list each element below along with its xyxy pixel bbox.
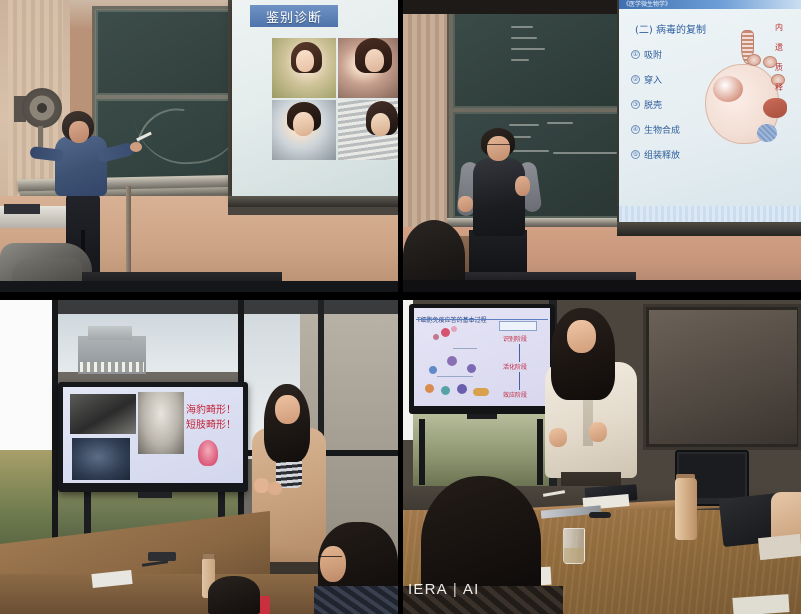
- slide-header-text: 《医学微生物学》: [623, 0, 671, 8]
- whiteboard: [649, 310, 797, 444]
- flow-node: [467, 364, 476, 373]
- panel-top-right: 《医学微生物学》 (二) 病毒的复制 ① 吸附 ② 穿入 ③ 脱壳 ④ 生物合成…: [403, 0, 801, 292]
- step-label: 组装释放: [644, 148, 680, 161]
- slide-image-seal: [72, 438, 130, 480]
- chalk-note: [511, 48, 545, 50]
- slide-footer-band: [619, 206, 801, 222]
- display-leg-right: [537, 419, 543, 485]
- presenter-hand-left: [549, 428, 567, 447]
- teacher-hand: [130, 142, 142, 152]
- flow-node: [433, 334, 439, 340]
- photo-collage: 鉴别诊断: [0, 0, 801, 614]
- panel-bottom-left: 海豹畸形！ 短肢畸形！: [0, 300, 398, 614]
- slide-step-item: ② 穿入: [631, 73, 703, 86]
- table-bottle-cap: [203, 554, 214, 559]
- step-label: 吸附: [644, 48, 662, 61]
- flow-node: [425, 384, 434, 393]
- chalk-note: [509, 124, 539, 126]
- teacher-hand-left: [458, 196, 473, 212]
- slide-image-archival: [70, 394, 136, 434]
- step-label: 生物合成: [644, 123, 680, 136]
- side-note: 质: [775, 62, 801, 73]
- slide-text-line-2: 短肢畸形！: [186, 418, 246, 433]
- photo-face: [293, 112, 313, 136]
- slide-photo-grid: [272, 38, 398, 160]
- watermark-suffix: AI: [463, 581, 480, 598]
- slide-stage-2: 活化阶段: [503, 362, 527, 371]
- step-number: ③: [631, 100, 640, 109]
- teacher-vest: [473, 158, 525, 236]
- flow-link: [453, 348, 477, 349]
- outside-building-roof: [88, 326, 132, 340]
- slide-section-title: (二) 病毒的复制: [635, 21, 706, 36]
- slide-step-item: ① 吸附: [631, 48, 703, 61]
- flow-node: [441, 386, 450, 395]
- teacher-face: [69, 121, 89, 143]
- fan-hub: [37, 103, 47, 113]
- slide-step-item: ③ 脱壳: [631, 98, 703, 111]
- slide-step-item: ⑤ 组装释放: [631, 148, 703, 161]
- attendee-face: [320, 546, 346, 582]
- slide-title-banner: 鉴别诊断: [250, 5, 338, 27]
- flow-node: [451, 326, 457, 332]
- slide-photo-2: [338, 38, 398, 98]
- slide-step-item: ④ 生物合成: [631, 123, 703, 136]
- photo-face: [365, 49, 384, 72]
- watermark-brand: IERA: [408, 581, 448, 598]
- cell-nucleus: [713, 76, 743, 102]
- chalk-note: [511, 59, 529, 61]
- attendee-right-book: [758, 534, 801, 560]
- slide-image-infant: [138, 392, 184, 454]
- panel-top-left: 鉴别诊断: [0, 0, 398, 292]
- photo-face: [371, 113, 390, 136]
- table-device: [148, 552, 176, 561]
- stage-arrow-1: [519, 344, 520, 362]
- flow-link: [437, 376, 473, 377]
- t-cell-flowchart: [423, 326, 493, 398]
- display-leg-left: [419, 419, 425, 485]
- panel-bottom-right: T细胞免疫应答的基本过程 识别阶段 活化阶段 效应阶段: [403, 300, 801, 614]
- presenter-hand-right: [589, 422, 607, 442]
- side-note: 遗: [775, 42, 801, 53]
- step-label: 穿入: [644, 73, 662, 86]
- desk-equipment: [4, 204, 40, 214]
- slide-photo-3: [272, 100, 336, 160]
- flow-node: [447, 356, 457, 366]
- watermark: IERA|AI: [408, 581, 480, 598]
- diagram-blue-structure: [757, 124, 777, 142]
- floor: [0, 281, 398, 292]
- slide-stage-3: 效应阶段: [503, 390, 527, 399]
- slide-stage-1: 识别阶段: [503, 334, 527, 343]
- floor: [403, 280, 801, 292]
- teacher-torso: [55, 136, 107, 196]
- presenter-hand-left: [254, 478, 269, 493]
- slide-title-text: 鉴别诊断: [266, 7, 322, 26]
- stage-arrow-2: [519, 372, 520, 390]
- chalk-note: [547, 122, 573, 124]
- side-note: 释: [775, 82, 801, 93]
- slide-side-notes: 内 遗 质 释: [775, 22, 801, 102]
- water-glass-liquid: [564, 548, 584, 563]
- projector-screen-bottom-bar: [228, 196, 398, 207]
- fan-stem: [38, 126, 43, 148]
- presenter-hand-right: [268, 482, 282, 495]
- teacher-hand-right: [515, 176, 530, 196]
- slide-step-list: ① 吸附 ② 穿入 ③ 脱壳 ④ 生物合成 ⑤ 组装释放: [631, 48, 703, 173]
- step-number: ⑤: [631, 150, 640, 159]
- step-number: ①: [631, 50, 640, 59]
- step-number: ②: [631, 75, 640, 84]
- attendee-patterned-top: [314, 586, 398, 614]
- watermark-separator: |: [453, 581, 458, 598]
- slide-header-bar: 《医学微生物学》: [619, 0, 801, 9]
- slide-text-block: 海豹畸形！ 短肢畸形！: [186, 403, 246, 433]
- virus-particle-2: [747, 54, 761, 66]
- chalk-note: [509, 150, 549, 152]
- flow-node: [473, 388, 489, 396]
- attendee-glasses: [318, 556, 342, 561]
- slide-photo-1: [272, 38, 336, 98]
- window-header: [58, 300, 398, 314]
- projector-screen-bottom-bar: [617, 222, 801, 236]
- presenter-face: [275, 395, 300, 424]
- outside-building-windows: [80, 362, 144, 372]
- attendee-back-head: [208, 576, 260, 614]
- step-number: ④: [631, 125, 640, 134]
- table-marker: [589, 512, 611, 518]
- photo-face: [296, 50, 314, 72]
- slide-title-wrap: T细胞免疫应答的基本过程: [417, 309, 537, 318]
- display-stand: [467, 414, 497, 419]
- slide-legend-box: [499, 321, 537, 331]
- side-note: 内: [775, 22, 801, 33]
- table-papers-2: [732, 594, 789, 614]
- display-stand: [138, 492, 172, 498]
- slide-photo-4: [338, 100, 398, 160]
- slide-title-rule: [416, 319, 548, 320]
- slide-figure-icon: [198, 440, 218, 466]
- chalk-note: [511, 37, 537, 39]
- slide-text-line-1: 海豹畸形！: [186, 403, 246, 418]
- thermos-bottle: [675, 478, 697, 540]
- teacher-glasses: [487, 144, 510, 149]
- chalk-note: [553, 152, 617, 154]
- flow-node: [457, 384, 467, 394]
- flow-node: [429, 366, 437, 374]
- flow-node: [441, 328, 450, 337]
- chalk-note: [511, 26, 533, 28]
- presenter-face: [567, 320, 596, 353]
- step-label: 脱壳: [644, 98, 662, 111]
